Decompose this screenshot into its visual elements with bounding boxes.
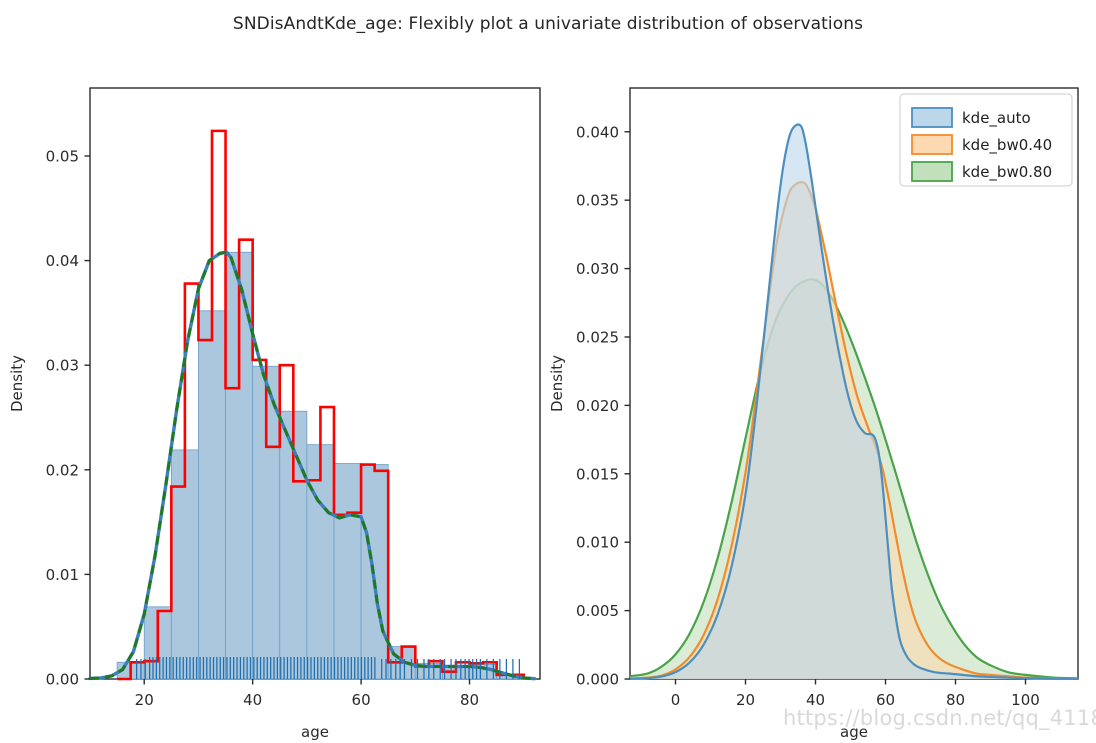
legend-swatch-kde_bw0.40 (912, 135, 952, 154)
legend-swatch-kde_auto (912, 108, 952, 127)
histogram-bar (198, 311, 225, 679)
left-plot-svg: 204060800.000.010.020.030.040.05ageDensi… (0, 60, 556, 743)
x-tick-label: 20 (135, 691, 154, 709)
figure-canvas: SNDisAndtKde_age: Flexibly plot a univar… (0, 0, 1096, 743)
x-tick-label: 60 (352, 691, 371, 709)
y-tick-label: 0.030 (576, 260, 619, 278)
x-axis-label: age (301, 723, 329, 741)
x-tick-label: 0 (671, 691, 681, 709)
y-tick-label: 0.02 (46, 461, 79, 479)
y-axis-label: Density (8, 355, 26, 412)
y-tick-label: 0.05 (46, 147, 79, 165)
y-tick-label: 0.005 (576, 602, 619, 620)
x-tick-label: 60 (876, 691, 895, 709)
right-plot-svg: 0204060801000.0000.0050.0100.0150.0200.0… (540, 60, 1096, 743)
legend-label-kde_bw0.40: kde_bw0.40 (962, 136, 1052, 155)
y-tick-label: 0.040 (576, 123, 619, 141)
y-tick-label: 0.04 (46, 252, 79, 270)
legend-swatch-kde_bw0.80 (912, 162, 952, 181)
y-tick-label: 0.01 (46, 566, 79, 584)
x-tick-label: 20 (736, 691, 755, 709)
y-tick-label: 0.025 (576, 328, 619, 346)
x-tick-label: 80 (460, 691, 479, 709)
x-tick-label: 100 (1011, 691, 1040, 709)
y-axis-label: Density (548, 355, 566, 412)
y-tick-label: 0.015 (576, 465, 619, 483)
y-tick-label: 0.03 (46, 357, 79, 375)
y-tick-label: 0.035 (576, 192, 619, 210)
left-axes: 204060800.000.010.020.030.040.05ageDensi… (0, 60, 556, 743)
y-tick-label: 0.00 (46, 671, 79, 689)
y-tick-label: 0.020 (576, 397, 619, 415)
y-tick-label: 0.010 (576, 534, 619, 552)
legend-label-kde_bw0.80: kde_bw0.80 (962, 163, 1052, 182)
x-axis-label: age (840, 723, 868, 741)
y-tick-label: 0.000 (576, 671, 619, 689)
legend[interactable]: kde_autokde_bw0.40kde_bw0.80 (900, 94, 1072, 186)
figure-title: SNDisAndtKde_age: Flexibly plot a univar… (0, 14, 1096, 34)
x-tick-label: 40 (806, 691, 825, 709)
x-tick-label: 80 (946, 691, 965, 709)
x-tick-label: 40 (243, 691, 262, 709)
histogram-bar (334, 464, 361, 679)
legend-label-kde_auto: kde_auto (962, 109, 1031, 128)
right-axes: 0204060801000.0000.0050.0100.0150.0200.0… (540, 60, 1096, 743)
